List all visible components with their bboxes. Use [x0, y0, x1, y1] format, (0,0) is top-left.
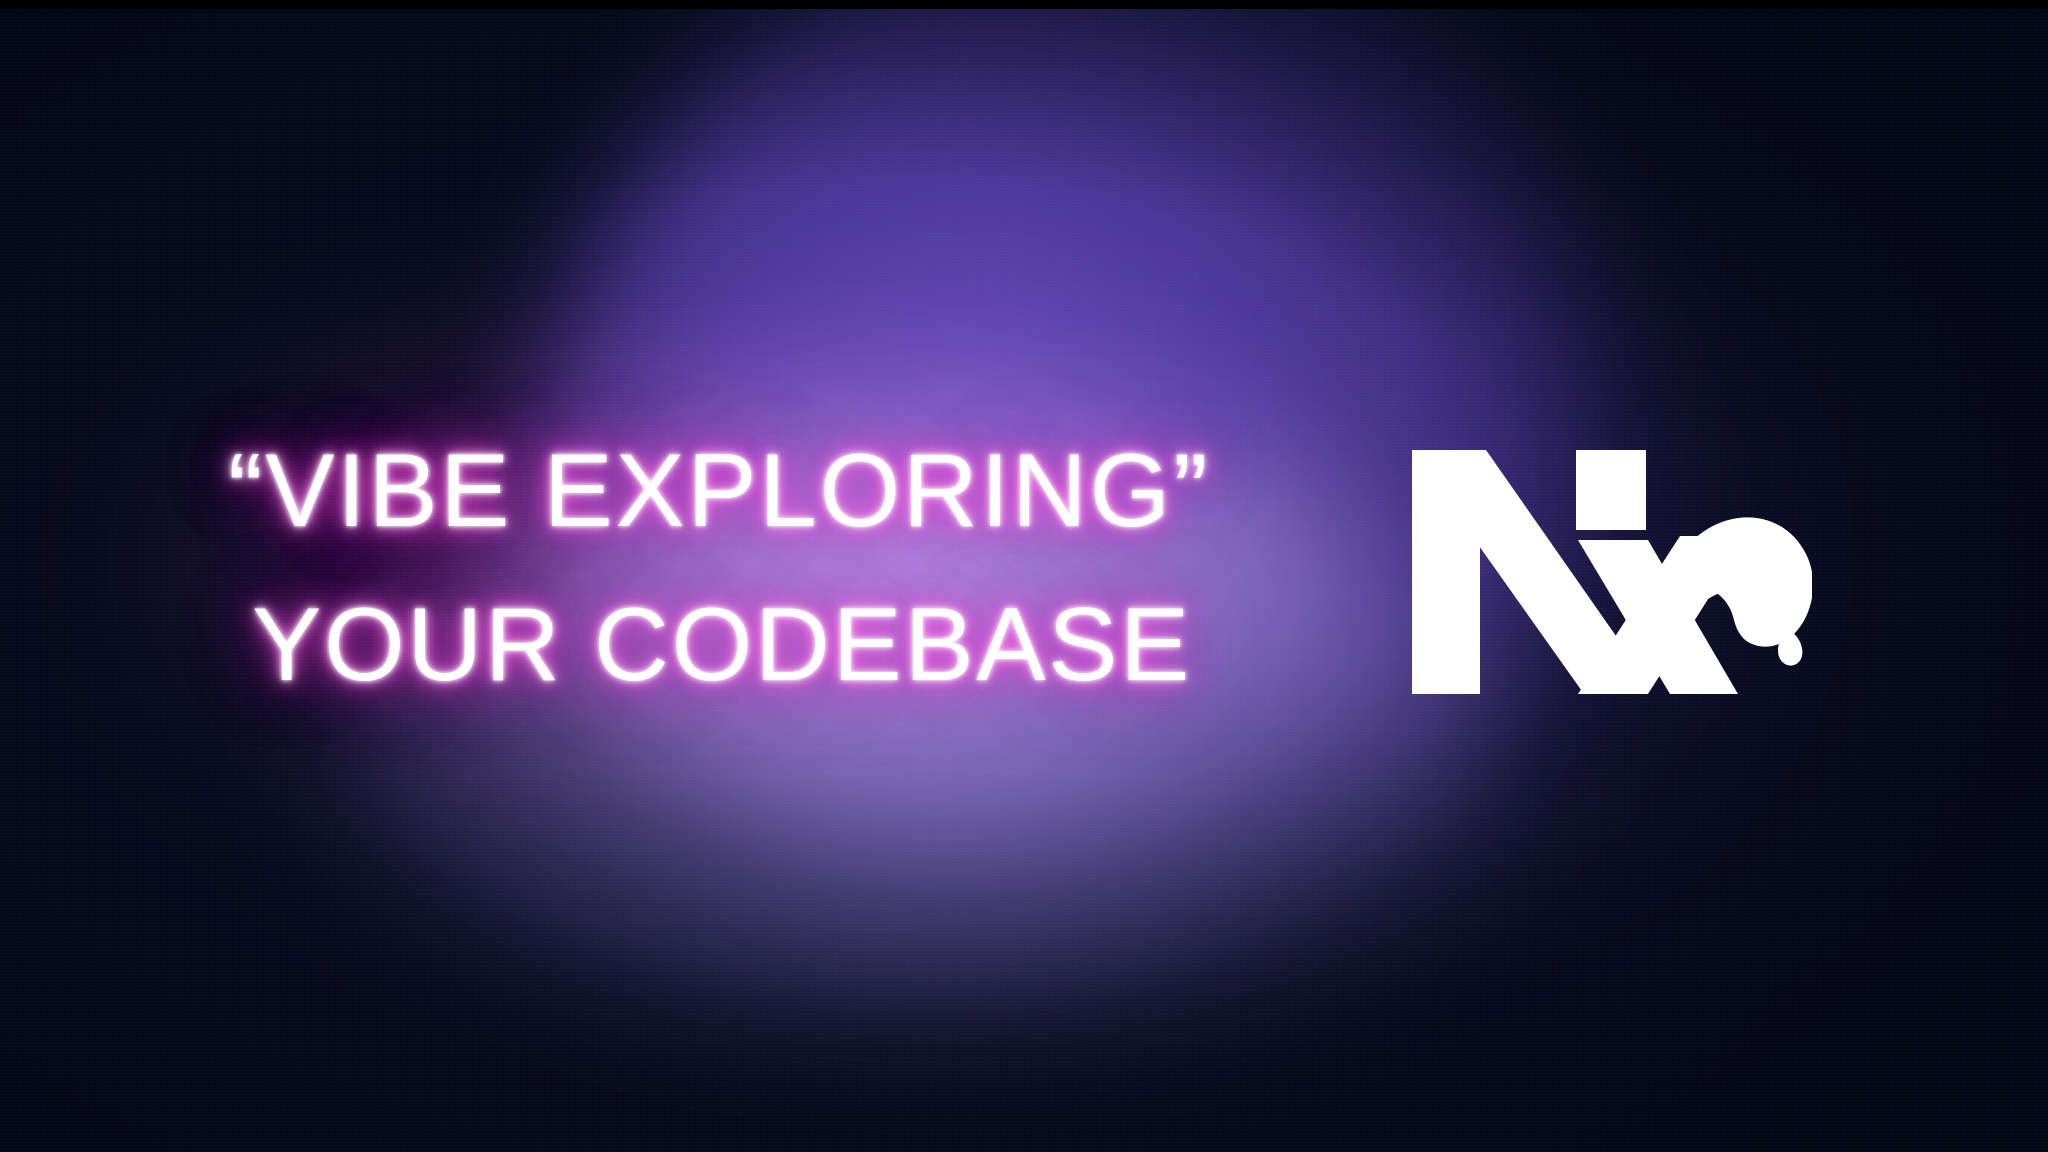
nx-logo — [1408, 444, 1812, 700]
letterbox-bar-top — [0, 0, 2048, 9]
headline-line-2: YOUR CODEBASE — [252, 568, 1288, 722]
headline-line-1: “VIBE EXPLORING” — [228, 414, 1288, 568]
headline-block: “VIBE EXPLORING” YOUR CODEBASE — [228, 414, 1288, 722]
slide-canvas: “VIBE EXPLORING” YOUR CODEBASE — [0, 0, 2048, 1152]
